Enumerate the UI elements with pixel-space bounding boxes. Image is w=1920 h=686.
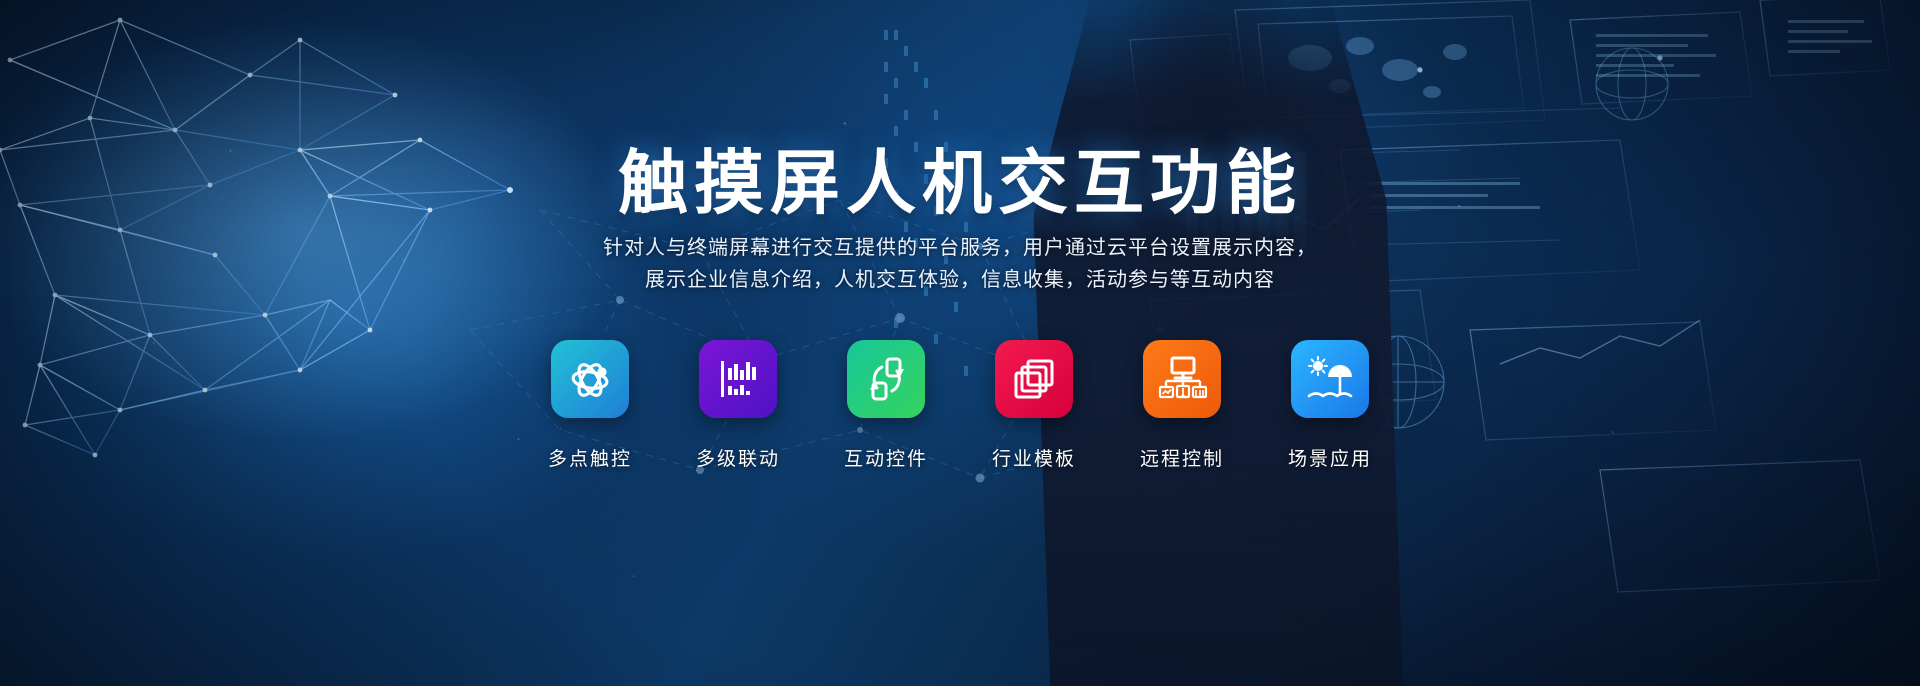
sync-devices-icon xyxy=(862,355,910,403)
banner-content: 触摸屏人机交互功能 针对人与终端屏幕进行交互提供的平台服务，用户通过云平台设置展… xyxy=(0,0,1920,686)
feature-label-interactive-widget: 互动控件 xyxy=(844,444,928,471)
subtitle-line-1: 针对人与终端屏幕进行交互提供的平台服务，用户通过云平台设置展示内容， xyxy=(0,232,1920,264)
feature-label-multi-level-linkage: 多级联动 xyxy=(696,444,780,471)
feature-label-scene-application: 场景应用 xyxy=(1288,444,1372,471)
feature-item-industry-template[interactable]: 行业模板 xyxy=(984,340,1084,471)
feature-item-remote-control[interactable]: 远程控制 xyxy=(1132,340,1232,471)
feature-item-scene-application[interactable]: 场景应用 xyxy=(1280,340,1380,471)
feature-item-multi-touch[interactable]: 多点触控 xyxy=(540,340,640,471)
layers-icon xyxy=(1010,355,1058,403)
hero-banner: 触摸屏人机交互功能 针对人与终端屏幕进行交互提供的平台服务，用户通过云平台设置展… xyxy=(0,0,1920,686)
atom-icon xyxy=(566,355,614,403)
feature-tile-multi-level-linkage[interactable] xyxy=(699,340,777,418)
feature-list: 多点触控 xyxy=(0,340,1920,471)
subtitle-block: 针对人与终端屏幕进行交互提供的平台服务，用户通过云平台设置展示内容， 展示企业信… xyxy=(0,232,1920,296)
feature-tile-remote-control[interactable] xyxy=(1143,340,1221,418)
feature-tile-industry-template[interactable] xyxy=(995,340,1073,418)
page-title: 触摸屏人机交互功能 xyxy=(0,148,1920,218)
feature-tile-interactive-widget[interactable] xyxy=(847,340,925,418)
feature-tile-multi-touch[interactable] xyxy=(551,340,629,418)
feature-item-multi-level-linkage[interactable]: 多级联动 xyxy=(688,340,788,471)
remote-control-icon xyxy=(1157,354,1207,404)
feature-tile-scene-application[interactable] xyxy=(1291,340,1369,418)
subtitle-line-2: 展示企业信息介绍，人机交互体验，信息收集，活动参与等互动内容 xyxy=(0,264,1920,296)
feature-label-multi-touch: 多点触控 xyxy=(548,444,632,471)
feature-label-industry-template: 行业模板 xyxy=(992,444,1076,471)
beach-scene-icon xyxy=(1306,355,1354,403)
feature-label-remote-control: 远程控制 xyxy=(1140,444,1224,471)
bar-chart-icon xyxy=(714,355,762,403)
feature-item-interactive-widget[interactable]: 互动控件 xyxy=(836,340,936,471)
